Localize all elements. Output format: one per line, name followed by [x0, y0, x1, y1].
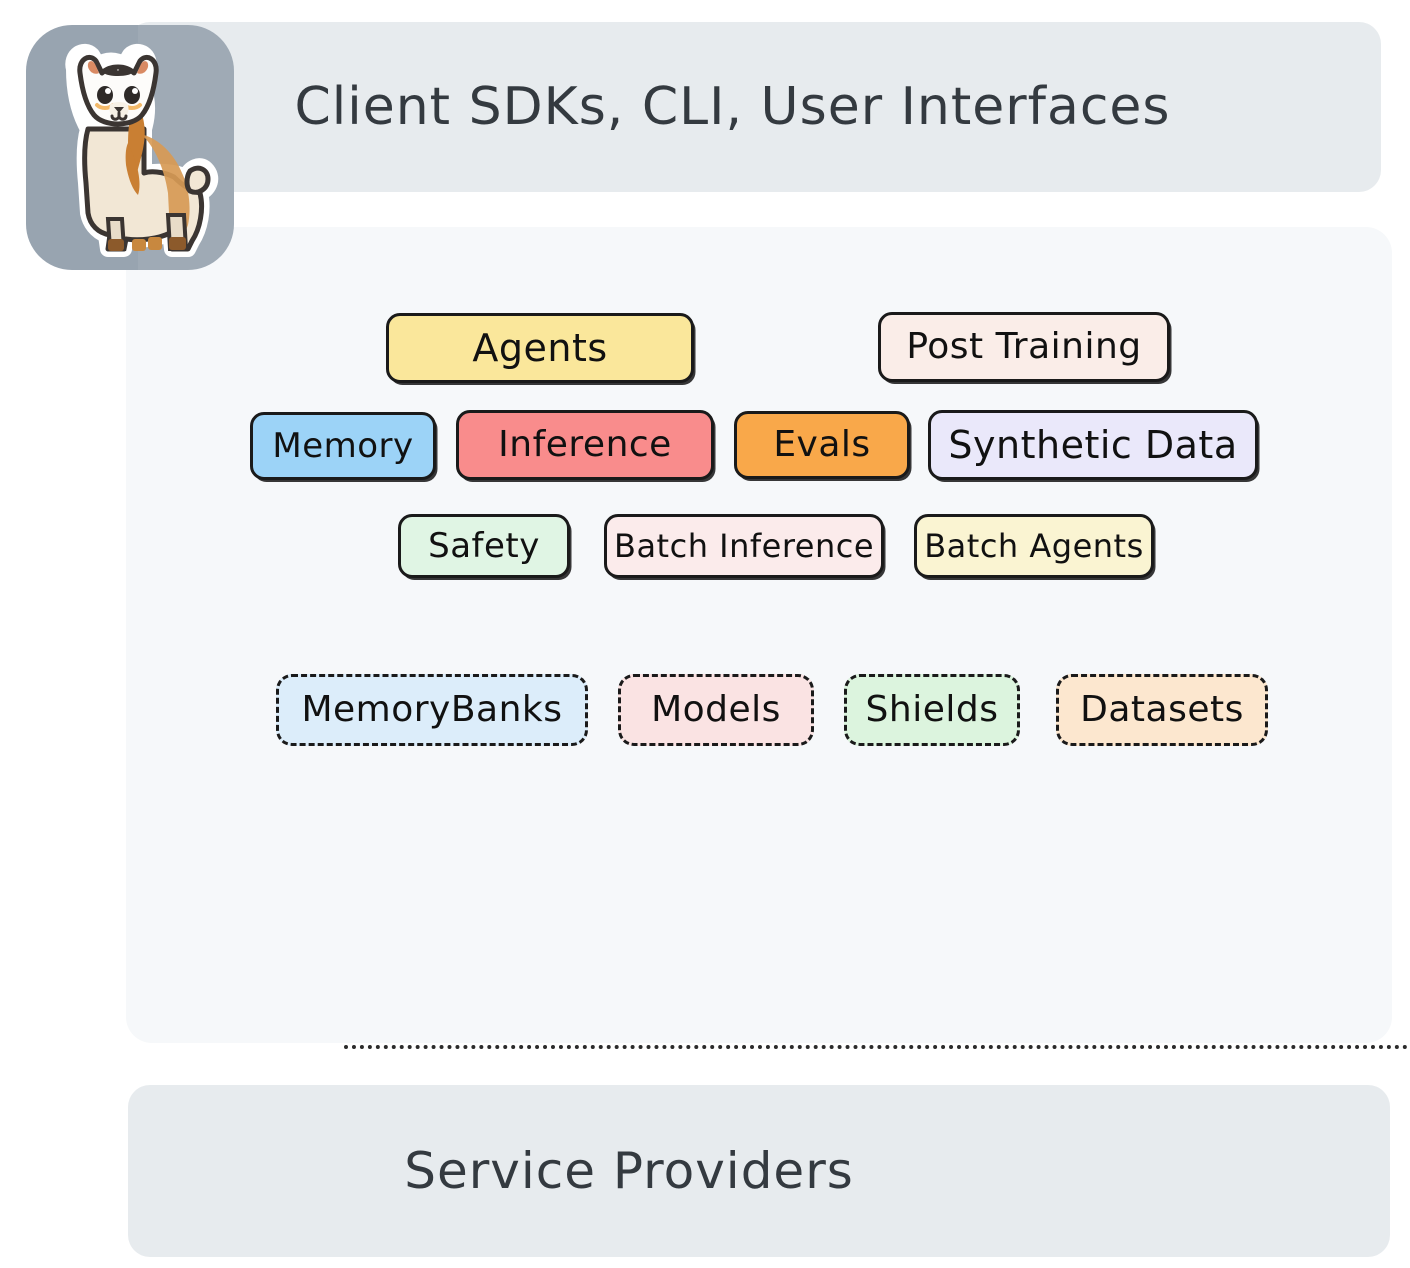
service-providers-label: Service Providers [404, 1142, 854, 1200]
api-box-safety[interactable]: Safety [398, 514, 570, 578]
api-box-memorybanks[interactable]: MemoryBanks [276, 674, 588, 746]
api-box-memory[interactable]: Memory [250, 412, 436, 480]
client-interfaces-bar: Client SDKs, CLI, User Interfaces [128, 22, 1381, 192]
page-title: Client SDKs, CLI, User Interfaces [295, 77, 1171, 137]
api-box-datasets[interactable]: Datasets [1056, 674, 1268, 746]
api-box-agents[interactable]: Agents [386, 313, 694, 383]
api-box-shields[interactable]: Shields [844, 674, 1020, 746]
api-box-inference[interactable]: Inference [456, 410, 714, 480]
api-box-batch-inference[interactable]: Batch Inference [604, 514, 884, 578]
llama-stack-api-panel: Telemetry AgentsPost TrainingMemoryInfer… [126, 227, 1392, 1043]
api-box-evals[interactable]: Evals [734, 411, 910, 479]
api-resource-divider [344, 1045, 1410, 1049]
api-box-models[interactable]: Models [618, 674, 814, 746]
service-providers-bar: Service Providers [128, 1085, 1390, 1257]
llama-logo-tile [26, 25, 234, 270]
api-box-synthetic-data[interactable]: Synthetic Data [928, 410, 1258, 480]
api-box-batch-agents[interactable]: Batch Agents [914, 514, 1154, 578]
api-box-post-training[interactable]: Post Training [878, 312, 1170, 382]
llama-logo-icon [40, 43, 224, 257]
